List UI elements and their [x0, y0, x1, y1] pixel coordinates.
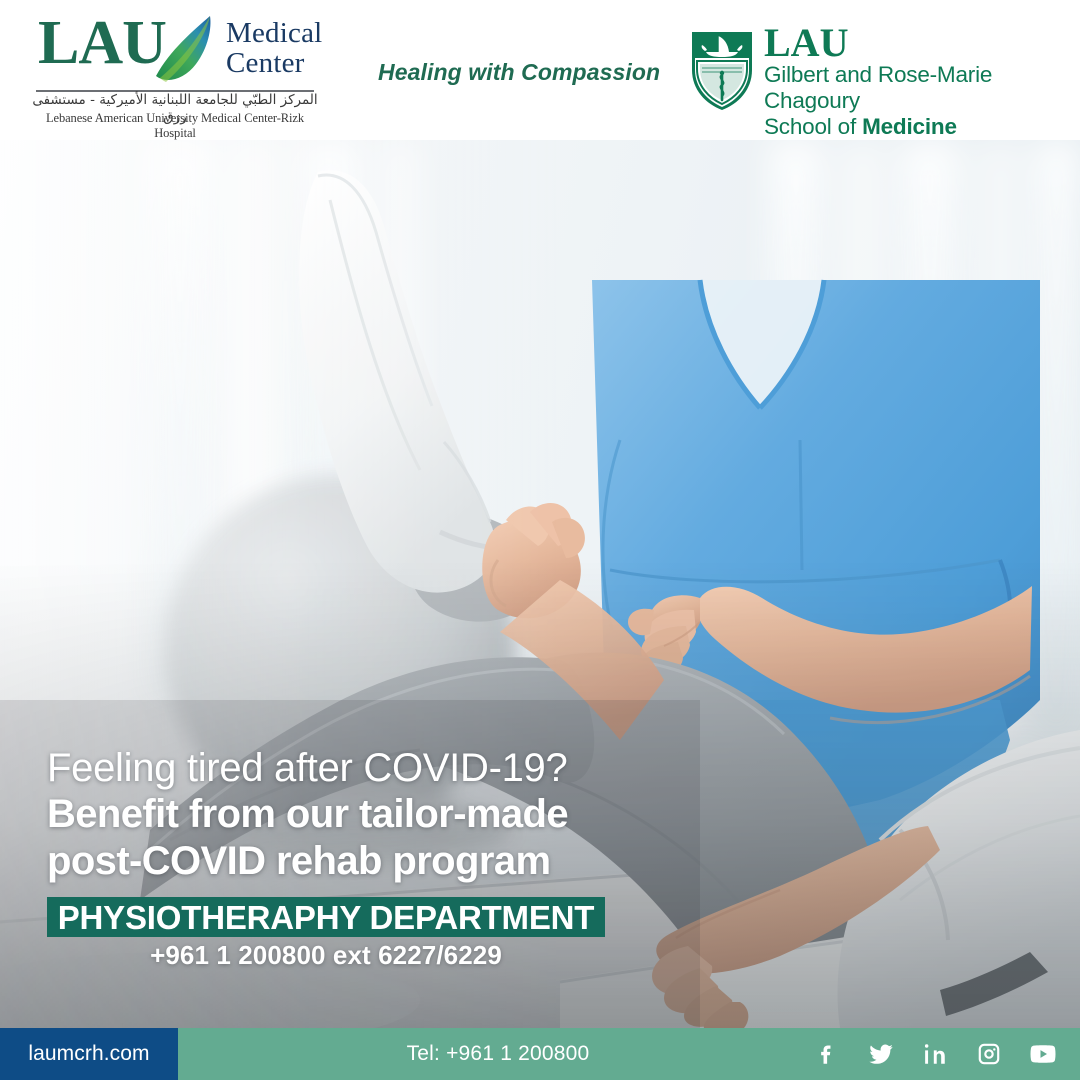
youtube-icon[interactable] [1028, 1039, 1058, 1069]
logo-english-subtitle: Lebanese American University Medical Cen… [30, 111, 320, 141]
school-of-label: School of [764, 114, 862, 139]
website-label: laumcrh.com [28, 1042, 149, 1066]
website-link[interactable]: laumcrh.com [0, 1028, 178, 1080]
lau-wordmark: LAU [38, 12, 166, 74]
department-phone-number: +961 1 200800 ext 6227/6229 [47, 940, 605, 971]
instagram-icon[interactable] [974, 1039, 1004, 1069]
headline-block: Feeling tired after COVID-19? Benefit fr… [47, 745, 667, 885]
social-links [812, 1028, 1058, 1080]
twitter-icon[interactable] [866, 1039, 896, 1069]
headline-line-3: post-COVID rehab program [47, 838, 667, 885]
footer-telephone: Tel: +961 1 200800 [178, 1028, 818, 1080]
footer-bar: laumcrh.com Tel: +961 1 200800 [0, 1028, 1080, 1080]
medicine-label: Medicine [862, 114, 957, 139]
department-banner: PHYSIOTHERAPHY DEPARTMENT [47, 897, 605, 937]
school-lau-wordmark: LAU [764, 24, 1080, 62]
lau-school-of-medicine-logo: LAU Gilbert and Rose-Marie Chagoury Scho… [688, 28, 1080, 112]
lau-leaf-swoosh-icon [150, 14, 222, 84]
lau-medical-center-logo: LAU Medical Cen [30, 12, 320, 124]
school-name-line2: School of Medicine [764, 114, 1080, 140]
school-name-line1: Gilbert and Rose-Marie Chagoury [764, 62, 1080, 114]
center-label: Center [226, 48, 322, 78]
headline-line-1: Feeling tired after COVID-19? [47, 745, 667, 791]
department-banner-label: PHYSIOTHERAPHY DEPARTMENT [58, 901, 595, 934]
tagline: Healing with Compassion [378, 59, 660, 86]
lau-crest-shield-icon [688, 28, 756, 112]
medical-center-text: Medical Center [226, 18, 322, 78]
header-bar: LAU Medical Cen [0, 0, 1080, 140]
physiotherapy-session-photo [0, 140, 1080, 1028]
medical-label: Medical [226, 18, 322, 48]
school-of-medicine-text: LAU Gilbert and Rose-Marie Chagoury Scho… [764, 24, 1080, 140]
facebook-icon[interactable] [812, 1039, 842, 1069]
poster-canvas: LAU Medical Cen [0, 0, 1080, 1080]
headline-line-2: Benefit from our tailor-made [47, 791, 667, 838]
linkedin-icon[interactable] [920, 1039, 950, 1069]
